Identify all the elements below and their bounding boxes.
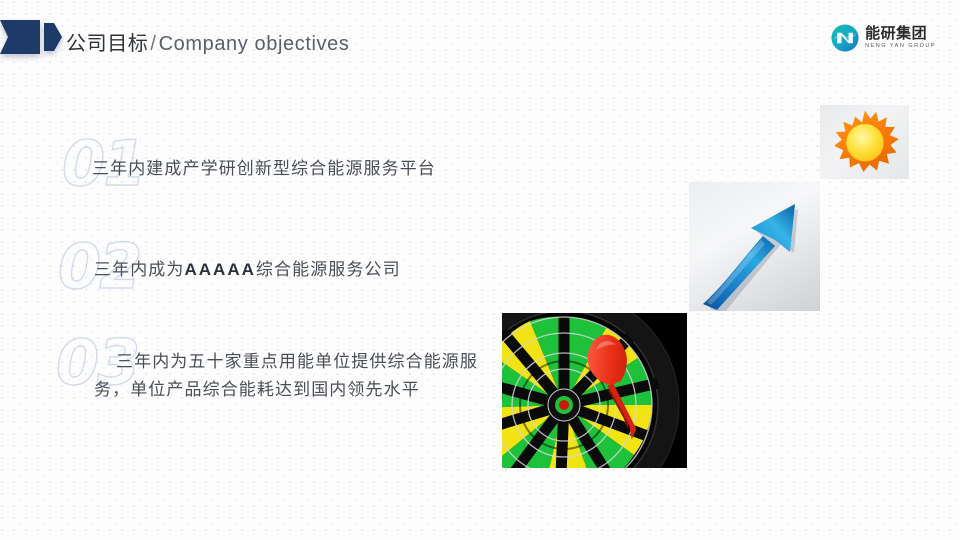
dartboard-graphic: 9 8 12 5 7 1 18 4 13 [502, 313, 687, 468]
logo-name-cn: 能研集团 [865, 26, 936, 41]
slide-canvas: 公司目标/Company objectives [0, 0, 960, 540]
neng-yan-circle-logo-icon [831, 24, 859, 52]
slide-header: 公司目标/Company objectives [0, 0, 960, 78]
objective-text-2: 三年内成为AAAAA综合能源服务公司 [94, 256, 554, 284]
ribbon-segment-large [0, 20, 40, 54]
objective-text-3: 三年内为五十家重点用能单位提供综合能源服务，单位产品综合能耗达到国内领先水平 [94, 348, 514, 403]
logo-wordmark: 能研集团 NENG YAN GROUP [865, 26, 936, 50]
objective-text-1: 三年内建成产学研创新型综合能源服务平台 [92, 155, 582, 183]
objective-item-3: 03 三年内为五十家重点用能单位提供综合能源服务，单位产品综合能耗达到国内领先水… [56, 332, 526, 452]
growth-arrow-graphic [689, 182, 820, 311]
dartboard-photo: 9 8 12 5 7 1 18 4 13 [502, 313, 687, 468]
page-title-separator: / [148, 33, 158, 55]
objective-item-2: 02 三年内成为AAAAA综合能源服务公司 [58, 236, 558, 308]
ribbon-arrow-icon [0, 20, 62, 54]
page-title-en: Company objectives [159, 33, 350, 55]
objective-text-2-before: 三年内成为 [94, 260, 185, 279]
page-title: 公司目标/Company objectives [66, 27, 349, 56]
logo-name-en: NENG YAN GROUP [865, 44, 936, 50]
sun-photo [820, 105, 909, 179]
company-logo: 能研集团 NENG YAN GROUP [831, 24, 936, 52]
sun-graphic [826, 109, 904, 175]
objective-text-2-bold: AAAAA [185, 260, 256, 279]
objective-text-2-after: 综合能源服务公司 [256, 260, 401, 279]
objective-item-1: 01 三年内建成产学研创新型综合能源服务平台 [62, 133, 582, 205]
ribbon-segment-small [44, 23, 62, 51]
page-title-cn: 公司目标 [66, 33, 148, 55]
growth-arrow-photo [689, 182, 820, 311]
